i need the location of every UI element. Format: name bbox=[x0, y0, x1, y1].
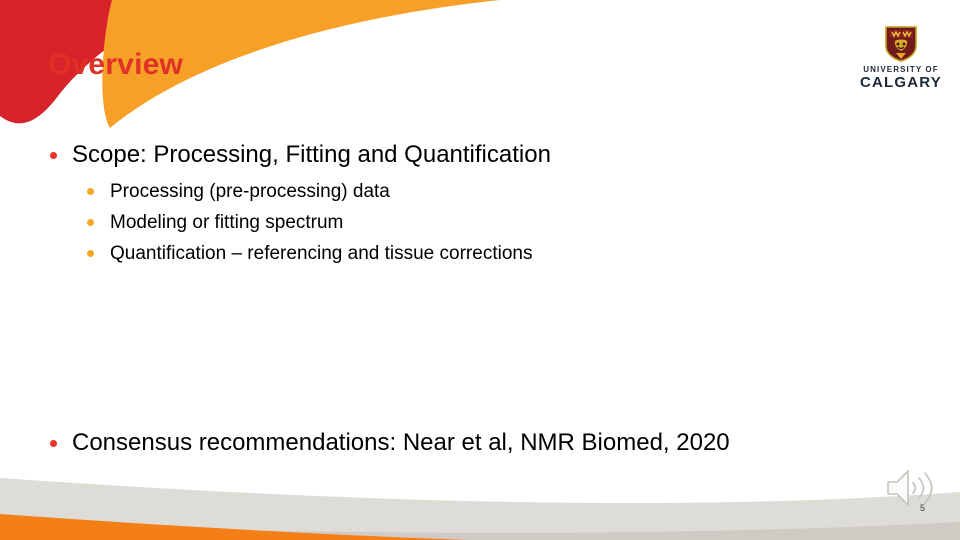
sub-bullet-dot-icon bbox=[87, 188, 94, 195]
logo-line-university-of: UNIVERSITY OF bbox=[855, 66, 947, 74]
slide-canvas: Overview UNIVERSITY OF CALGARY Scope: Pr… bbox=[0, 0, 960, 540]
sub-bullet-processing: Processing (pre-processing) data bbox=[46, 176, 926, 207]
bullet-dot-icon bbox=[50, 152, 57, 159]
bullet-consensus: Consensus recommendations: Near et al, N… bbox=[46, 428, 952, 458]
bottom-orange-band bbox=[0, 514, 470, 540]
sub-bullet-modeling: Modeling or fitting spectrum bbox=[46, 207, 926, 238]
logo-line-calgary: CALGARY bbox=[855, 75, 947, 90]
sub-bullet-quantification-label: Quantification – referencing and tissue … bbox=[110, 243, 532, 264]
slide-content: Scope: Processing, Fitting and Quantific… bbox=[46, 140, 926, 269]
university-logo: UNIVERSITY OF CALGARY bbox=[855, 26, 947, 90]
bullet-main-scope-label: Scope: Processing, Fitting and Quantific… bbox=[72, 141, 551, 168]
bullet-main-scope: Scope: Processing, Fitting and Quantific… bbox=[46, 140, 926, 170]
speaker-audio-icon[interactable] bbox=[884, 465, 942, 511]
bullet-dot-icon bbox=[50, 440, 57, 447]
sub-bullet-processing-label: Processing (pre-processing) data bbox=[110, 181, 390, 202]
calgary-shield-crest-icon bbox=[884, 26, 918, 62]
sub-bullet-dot-icon bbox=[87, 219, 94, 226]
sub-bullet-modeling-label: Modeling or fitting spectrum bbox=[110, 212, 343, 233]
bottom-gray-band bbox=[0, 478, 960, 540]
bottom-gray-strip bbox=[0, 522, 960, 540]
sub-bullet-list: Processing (pre-processing) data Modelin… bbox=[46, 176, 926, 269]
page-title: Overview bbox=[48, 48, 183, 81]
slide-decoration bbox=[0, 0, 960, 540]
bullet-consensus-label: Consensus recommendations: Near et al, N… bbox=[72, 429, 730, 456]
page-number: 5 bbox=[920, 504, 925, 513]
sub-bullet-quantification: Quantification – referencing and tissue … bbox=[46, 238, 926, 269]
sub-bullet-dot-icon bbox=[87, 250, 94, 257]
